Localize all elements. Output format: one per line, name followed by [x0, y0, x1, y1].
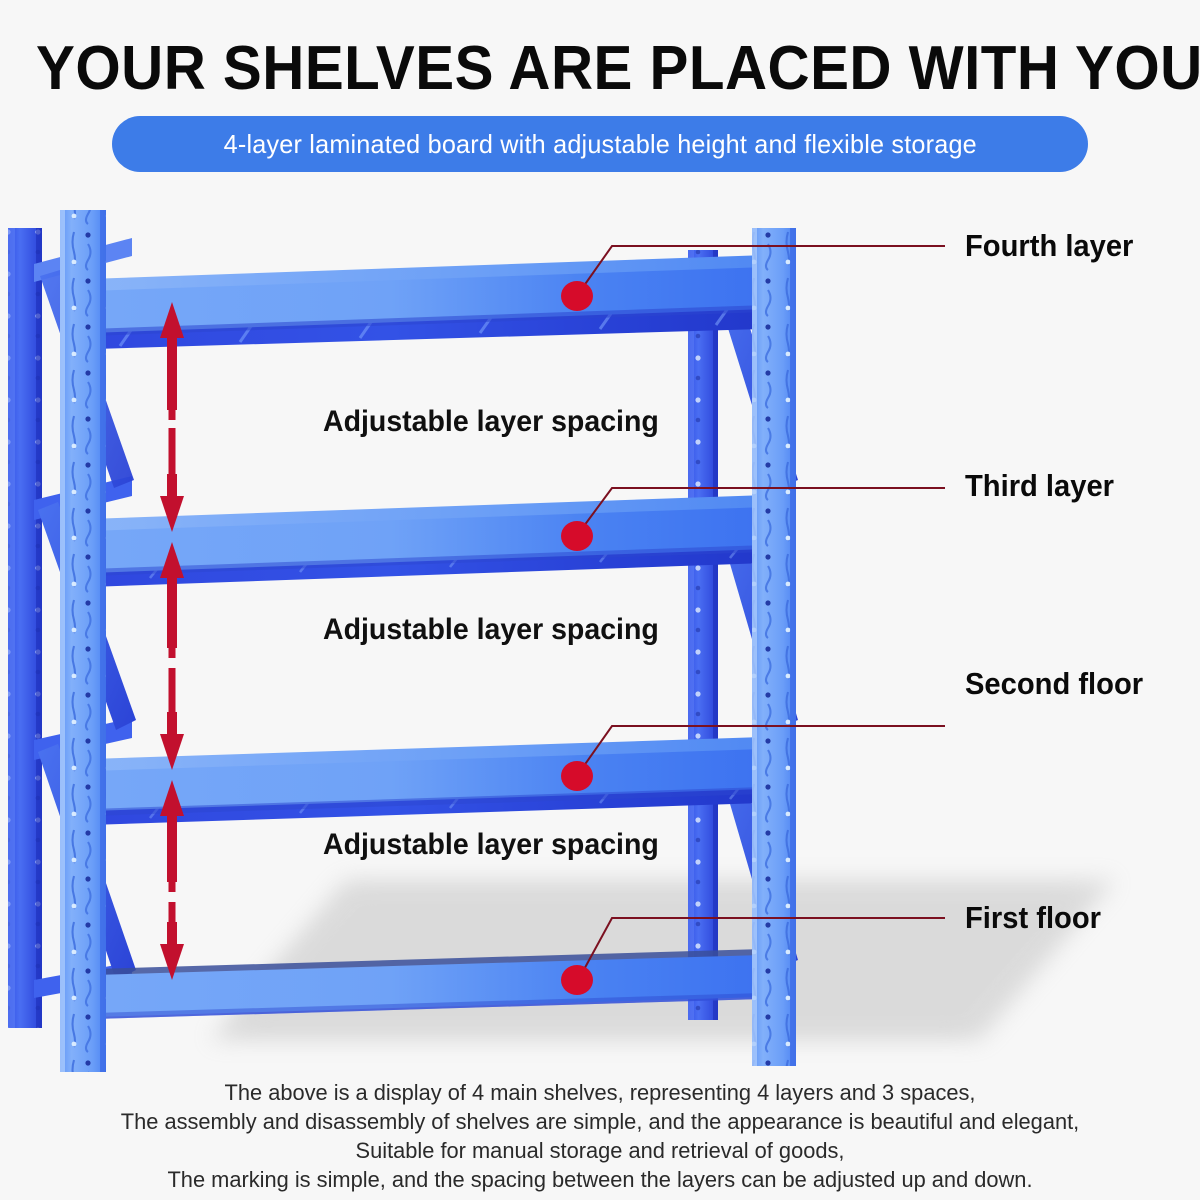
upright-front-left	[60, 210, 106, 1072]
page-title: YOUR SHELVES ARE PLACED WITH YOU	[36, 38, 1164, 100]
footer-line-3: Suitable for manual storage and retrieva…	[18, 1136, 1182, 1165]
spacing-arrow-top	[160, 302, 184, 532]
spacing-label-top: Adjustable layer spacing	[323, 405, 659, 439]
subtitle-banner-text: 4-layer laminated board with adjustable …	[223, 129, 976, 160]
footer-line-1: The above is a display of 4 main shelves…	[18, 1078, 1182, 1107]
footer-line-2: The assembly and disassembly of shelves …	[18, 1107, 1182, 1136]
callout-dot-third	[561, 521, 593, 551]
footer-line-4: The marking is simple, and the spacing b…	[18, 1165, 1182, 1194]
callout-label-third-layer: Third layer	[965, 468, 1114, 504]
infographic-canvas: YOUR SHELVES ARE PLACED WITH YOU 4-layer…	[0, 0, 1200, 1200]
upright-rear-right	[688, 250, 718, 1020]
spacing-arrow-bottom	[160, 780, 184, 980]
callout-dot-first	[561, 965, 593, 995]
callout-label-first-floor: First floor	[965, 900, 1101, 936]
callout-dot-fourth	[561, 281, 593, 311]
upright-front-right	[752, 228, 796, 1066]
callout-label-second-floor: Second floor	[965, 666, 1143, 702]
subtitle-banner: 4-layer laminated board with adjustable …	[112, 116, 1088, 172]
spacing-arrow-middle	[160, 542, 184, 770]
upright-rear-left	[8, 228, 42, 1028]
spacing-label-bottom: Adjustable layer spacing	[323, 828, 659, 862]
callout-label-fourth-layer: Fourth layer	[965, 228, 1133, 264]
spacing-label-middle: Adjustable layer spacing	[323, 613, 659, 647]
callout-dot-second	[561, 761, 593, 791]
footer-description: The above is a display of 4 main shelves…	[18, 1078, 1182, 1194]
